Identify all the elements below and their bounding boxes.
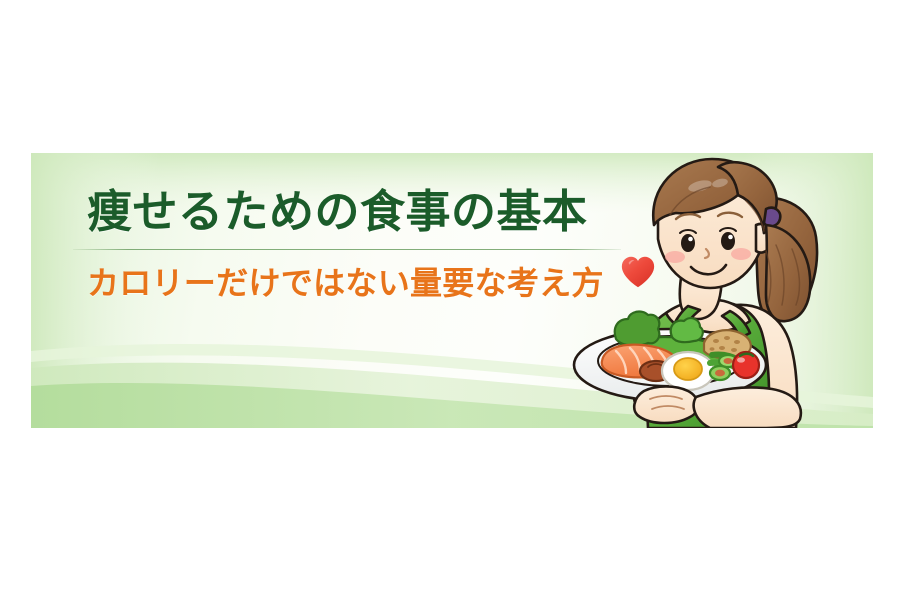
title-divider [73, 249, 621, 250]
heart-icon [619, 253, 657, 291]
article-header-banner: 痩せるための食事の基本 カロリーだけではない量要な考え方 [31, 153, 873, 428]
page-canvas: 痩せるための食事の基本 カロリーだけではない量要な考え方 [0, 0, 900, 600]
woman-with-meal-illustration [560, 153, 873, 428]
